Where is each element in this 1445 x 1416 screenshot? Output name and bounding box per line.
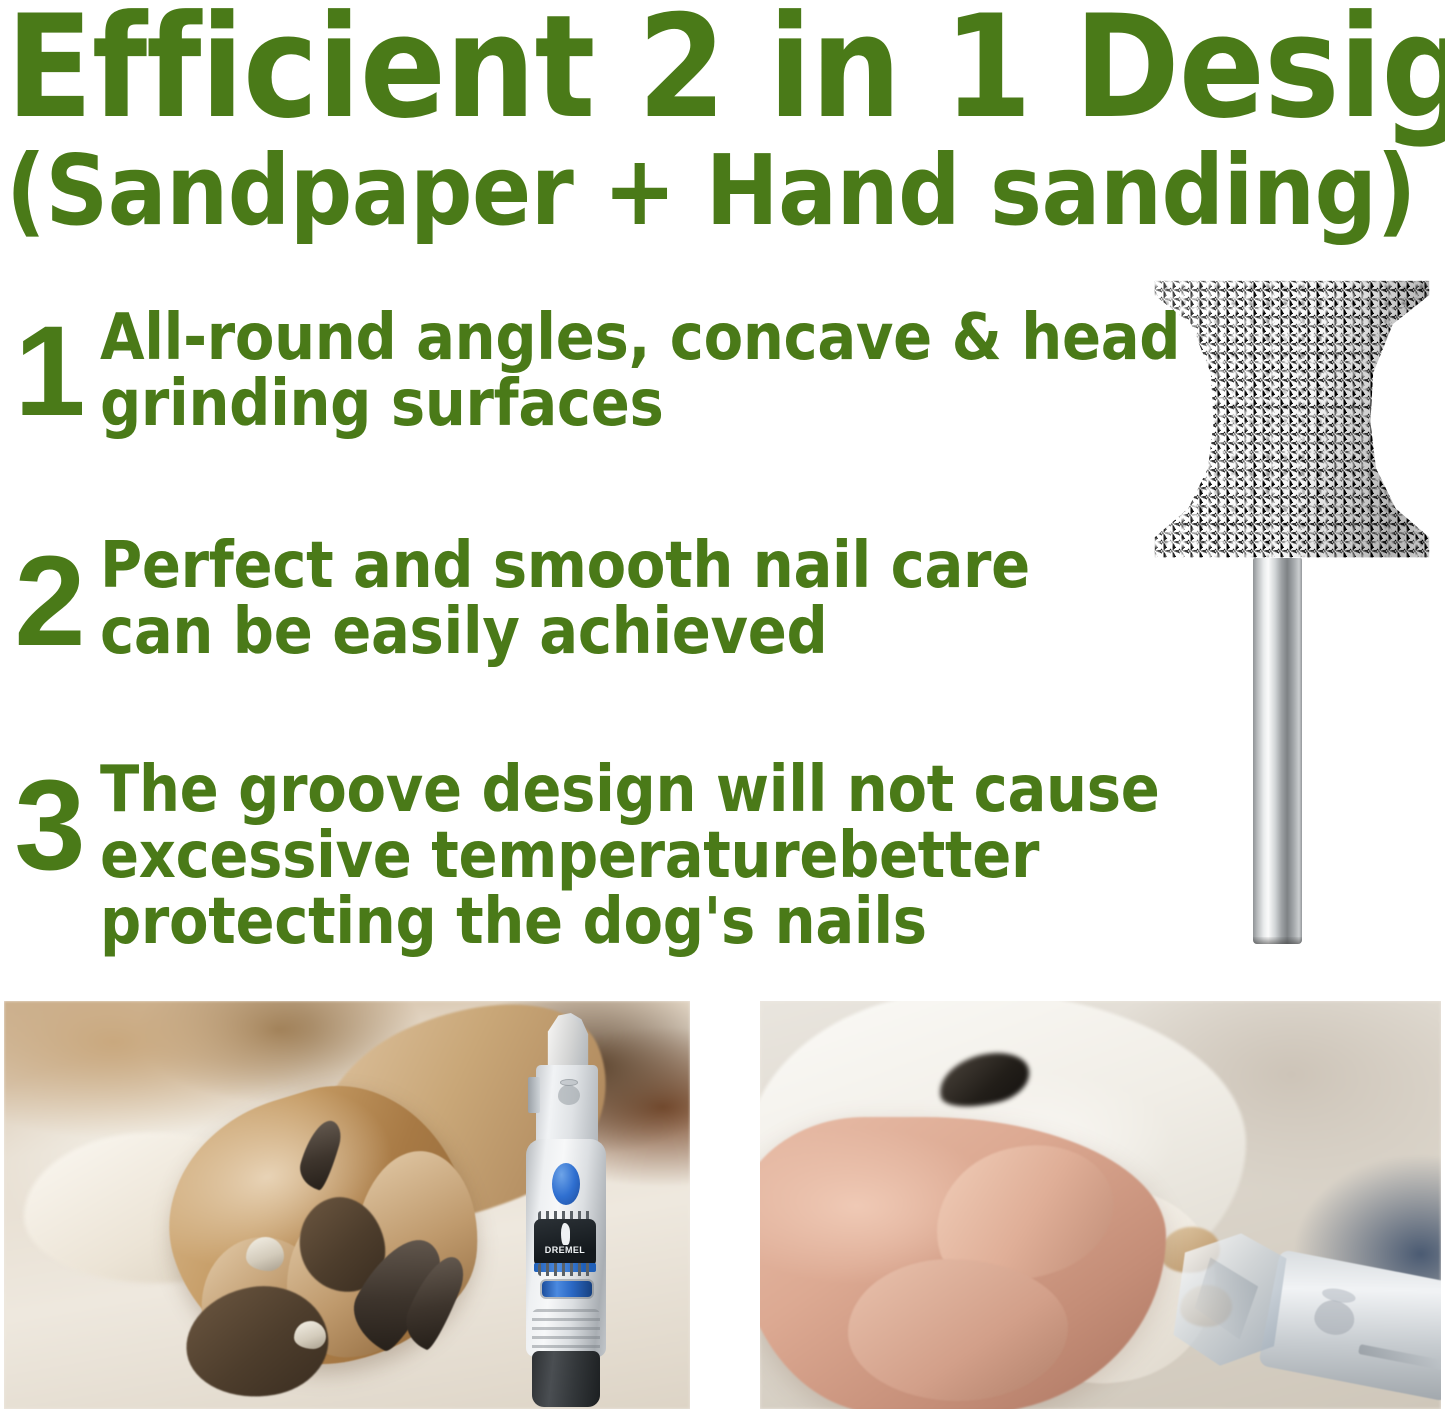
- list-item: 3 The groove design will not cause exces…: [0, 748, 1100, 956]
- list-item: 2 Perfect and smooth nail care can be ea…: [0, 524, 1100, 666]
- feature-line: excessive temperaturebetter: [100, 824, 1160, 890]
- feature-number: 2: [0, 538, 100, 666]
- page-title: Efficient 2 in 1 Design: [6, 0, 1431, 141]
- feature-line: The groove design will not cause: [100, 758, 1160, 824]
- knuckle-shape: [848, 1259, 1068, 1401]
- grinding-bit-illustration: [1152, 278, 1432, 950]
- list-item: 1 All-round angles, concave & head grind…: [0, 296, 1100, 438]
- feature-list: 1 All-round angles, concave & head grind…: [0, 296, 1100, 956]
- tool-vent: [538, 1263, 594, 1276]
- feature-line: All-round angles, concave & head: [100, 306, 1180, 372]
- feature-text: The groove design will not cause excessi…: [100, 748, 1160, 956]
- tool-end-cap: [532, 1351, 600, 1407]
- speed-slider: [542, 1281, 592, 1297]
- grinding-bit-shaft: [1253, 558, 1302, 944]
- dog-nail-shape: [294, 1321, 326, 1349]
- photo-dog-paws-with-grinder: DREMEL: [4, 1001, 690, 1409]
- tool-grip: [532, 1309, 600, 1353]
- nail-grinder-tool: DREMEL: [518, 1013, 610, 1403]
- feature-line: Perfect and smooth nail care: [100, 534, 1030, 600]
- page-subtitle: (Sandpaper + Hand sanding): [6, 140, 1416, 242]
- photo-hand-grinding-dog-nail: [760, 1001, 1441, 1409]
- brand-name: DREMEL: [534, 1245, 596, 1255]
- feature-number: 1: [0, 308, 100, 436]
- dog-nail-shape: [246, 1237, 284, 1271]
- feature-line: protecting the dog's nails: [100, 890, 1160, 956]
- feature-text: All-round angles, concave & head grindin…: [100, 296, 1180, 438]
- tool-clip: [528, 1077, 540, 1113]
- feature-line: grinding surfaces: [100, 372, 1180, 438]
- feature-line: can be easily achieved: [100, 600, 1030, 666]
- paw-print-icon: [558, 1085, 580, 1105]
- infographic-page: Efficient 2 in 1 Design (Sandpaper + Han…: [0, 0, 1445, 1416]
- grinding-head-icon: [1152, 278, 1432, 566]
- power-button: [552, 1163, 580, 1205]
- feature-text: Perfect and smooth nail care can be easi…: [100, 524, 1030, 666]
- brand-label: DREMEL: [534, 1219, 596, 1267]
- feature-number: 3: [0, 762, 100, 890]
